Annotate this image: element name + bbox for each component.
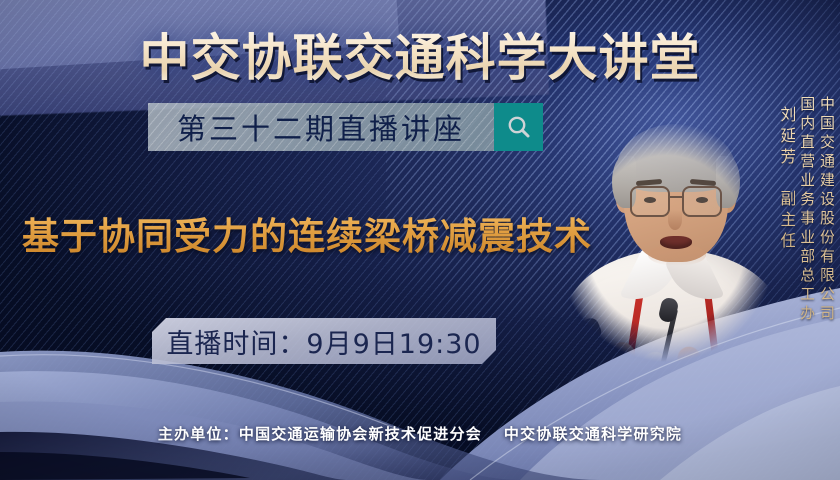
speaker-organization: 中国交通建设股份有限公司 [818, 96, 834, 324]
footer-org-2: 中交协联交通科学研究院 [504, 425, 682, 443]
search-icon-button[interactable] [494, 103, 543, 151]
subtitle-text: 第三十二期直播讲座 [177, 106, 465, 148]
speaker-info-vertical: 刘延芳 副主任 国内直营业务事业部总工办 中国交通建设股份有限公司 [778, 96, 834, 324]
topic-title: 基于协同受力的连续梁桥减震技术 [22, 206, 592, 260]
speaker-department: 国内直营业务事业部总工办 [799, 96, 815, 324]
subtitle-bar-body: 第三十二期直播讲座 [148, 103, 494, 151]
footer-organizers: 主办单位：中国交通运输协会新技术促进分会中交协联交通科学研究院 [0, 423, 840, 444]
live-time-badge: 直播时间：9月9日19:30 [152, 318, 496, 364]
footer-prefix: 主办单位： [158, 425, 239, 443]
speaker-name-and-title: 刘延芳 副主任 [778, 106, 795, 253]
footer-org-1: 中国交通运输协会新技术促进分会 [239, 425, 482, 443]
page-title: 中交协联交通科学大讲堂 [0, 18, 840, 90]
search-icon [506, 114, 532, 140]
live-lecture-poster: 中交协联交通科学大讲堂 第三十二期直播讲座 基于协同受力的连续梁桥减震技术 直播… [0, 0, 840, 480]
subtitle-bar: 第三十二期直播讲座 [148, 103, 543, 151]
live-time-text: 直播时间：9月9日19:30 [166, 322, 481, 361]
